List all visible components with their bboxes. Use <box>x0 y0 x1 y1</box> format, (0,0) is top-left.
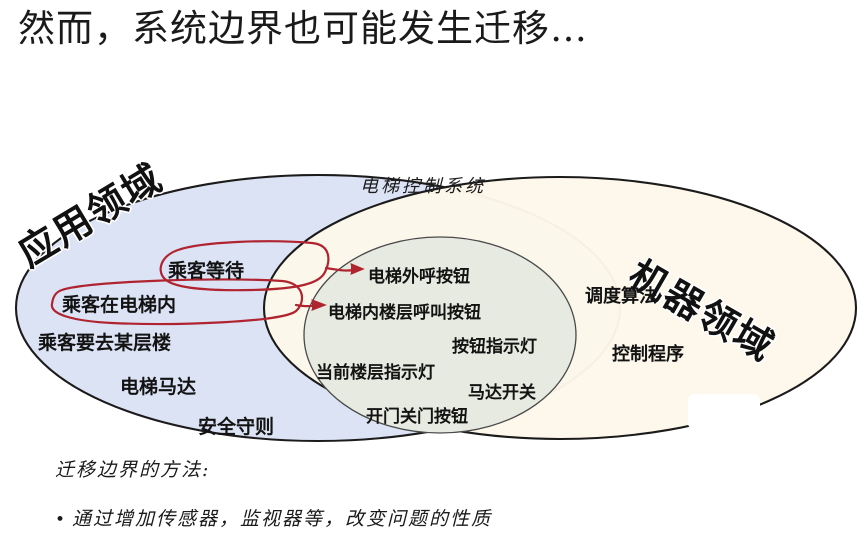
notes-block: 迁移边界的方法: • 通过增加传感器，监视器等，改变问题的性质 <box>55 455 845 531</box>
right-item-scheduling-algorithm: 调度算法 <box>585 282 657 308</box>
left-item-elevator-motor: 电梯马达 <box>120 372 196 399</box>
notes-bullet-item: • 通过增加传感器，监视器等，改变问题的性质 <box>55 504 845 531</box>
white-erase-patch <box>688 394 760 430</box>
right-item-control-program: 控制程序 <box>612 340 684 366</box>
notes-heading: 迁移边界的方法: <box>55 455 845 482</box>
notes-bullet-text: 通过增加传感器，监视器等，改变问题的性质 <box>72 504 492 531</box>
overlap-item-internal-floor-button: 电梯内楼层呼叫按钮 <box>328 298 481 323</box>
overlap-item-current-floor-indicator: 当前楼层指示灯 <box>316 358 435 383</box>
left-item-passenger-destination: 乘客要去某层楼 <box>38 328 171 355</box>
page-title: 然而，系统边界也可能发生迁移… <box>18 4 588 54</box>
overlap-item-motor-switch: 马达开关 <box>468 378 536 403</box>
overlap-item-door-open-close-button: 开门关门按钮 <box>366 402 468 427</box>
left-item-passenger-inside: 乘客在电梯内 <box>62 290 176 317</box>
overlap-item-button-indicator-lamp: 按钮指示灯 <box>452 332 537 357</box>
bullet-marker-icon: • <box>55 512 65 529</box>
overlap-item-external-call-button: 电梯外呼按钮 <box>368 262 470 287</box>
left-item-passenger-waiting: 乘客等待 <box>168 256 244 283</box>
left-item-safety-rules: 安全守则 <box>198 412 274 439</box>
venn-diagram: 应用领域 机器领域 电梯控制系统 乘客等待 乘客在电梯内 乘客要去某层楼 电梯马… <box>0 150 863 460</box>
system-name-label: 电梯控制系统 <box>360 172 486 198</box>
